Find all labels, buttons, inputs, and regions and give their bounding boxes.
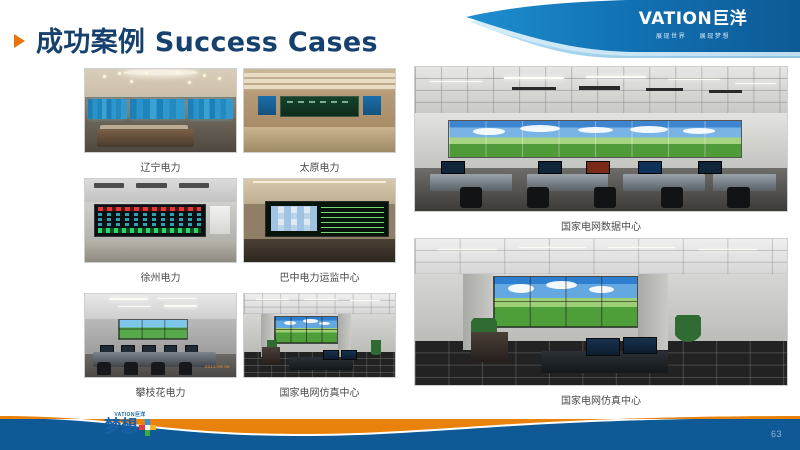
case-caption: 徐州电力 [84,269,237,284]
tagline-left: 展现世界 [656,34,686,40]
case-figure-panzhihua[interactable]: 2013.09.06 攀枝花电力 [84,293,237,399]
control-room-photo [84,68,237,153]
slide-title-row: 成功案例 Success Cases [14,20,378,59]
simulation-center-wide-photo [414,238,788,386]
footer-logo-word: 梦想 [104,418,137,436]
multicolor-plus-icon [139,419,156,436]
case-caption: 国家电网数据中心 [414,218,788,233]
company-logo-name: VATION巨洋 [618,10,768,29]
data-center-video-wall-photo [414,66,788,212]
monitoring-screen-photo [243,178,396,263]
case-figure-liaoning[interactable]: 辽宁电力 [84,68,237,174]
case-gallery: 辽宁电力 太原电力 [0,58,800,408]
case-figure-bazhong[interactable]: 巴中电力运监中心 [243,178,396,284]
case-figure-data-center[interactable]: 国家电网数据中心 [414,66,788,233]
case-figure-xuzhou[interactable]: 徐州电力 [84,178,237,284]
company-logo-footer: VATION巨洋 梦想 [88,412,172,436]
simulation-center-photo [243,293,396,378]
mosaic-display-wall-photo [84,178,237,263]
operations-console-photo: 2013.09.06 [84,293,237,378]
company-logo-tagline: 展现世界 展现梦想 [618,31,768,40]
case-caption: 攀枝花电力 [84,384,237,399]
page-number: 63 [771,429,782,439]
hall-green-screen-photo [243,68,396,153]
case-figure-taiyuan[interactable]: 太原电力 [243,68,396,174]
case-figure-simulation-large[interactable]: 国家电网仿真中心 [414,238,788,407]
page-title: 成功案例 Success Cases [36,20,378,59]
triangle-right-icon [14,34,25,48]
case-caption: 辽宁电力 [84,159,237,174]
case-caption: 巴中电力运监中心 [243,269,396,284]
case-caption: 国家电网仿真中心 [243,384,396,399]
tagline-right: 展现梦想 [700,34,730,40]
case-caption: 太原电力 [243,159,396,174]
company-logo-header: VATION巨洋 展现世界 展现梦想 [618,10,768,40]
case-figure-simulation-small[interactable]: 国家电网仿真中心 [243,293,396,399]
